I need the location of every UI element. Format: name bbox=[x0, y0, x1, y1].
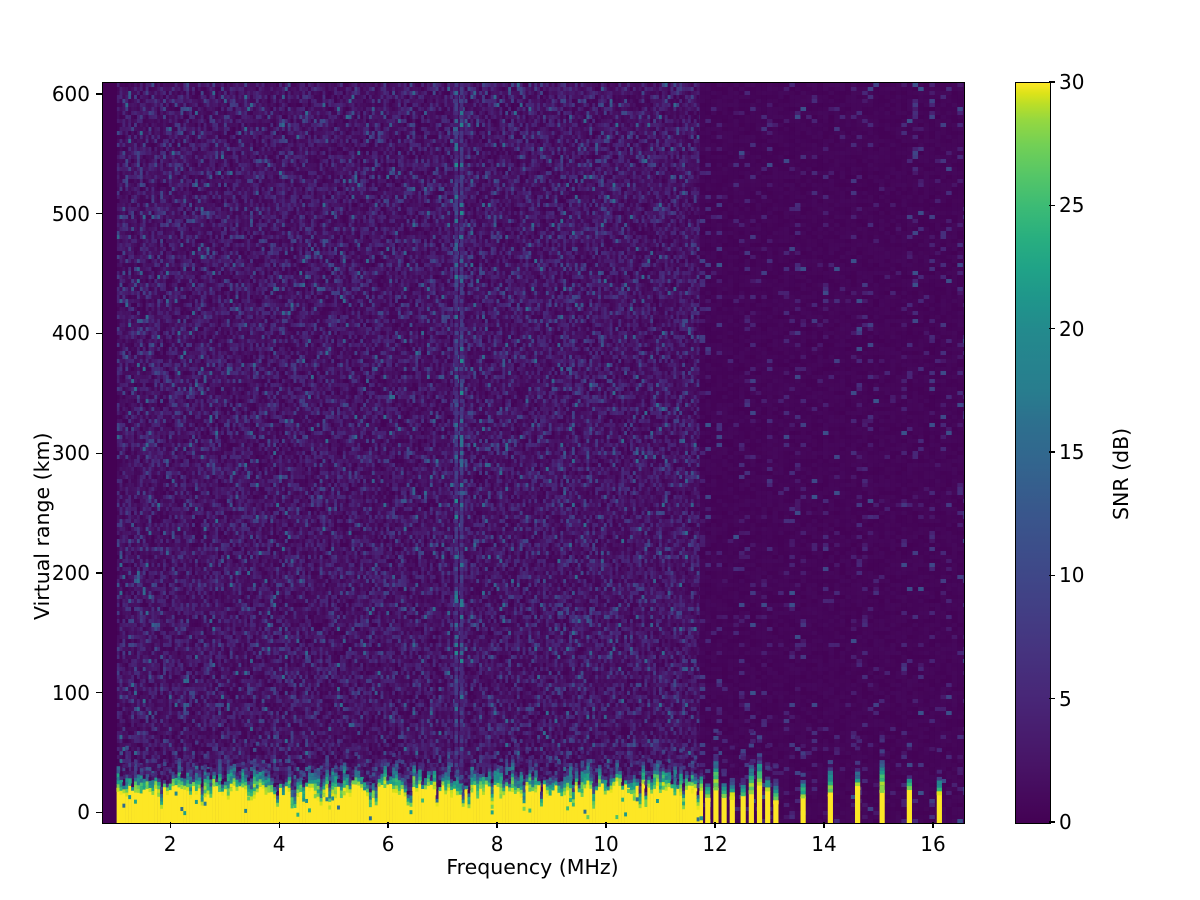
colorbar-tick-label: 25 bbox=[1059, 195, 1084, 215]
x-tick-mark bbox=[496, 822, 497, 828]
x-tick-mark bbox=[823, 822, 824, 828]
y-tick-label: 100 bbox=[6, 683, 90, 703]
x-tick-mark bbox=[932, 822, 933, 828]
y-tick-mark bbox=[96, 812, 102, 813]
colorbar[interactable] bbox=[1015, 82, 1051, 824]
x-tick-label: 2 bbox=[130, 834, 210, 854]
y-tick-mark bbox=[96, 333, 102, 334]
colorbar-tick-label: 10 bbox=[1059, 565, 1084, 585]
colorbar-tick-label: 0 bbox=[1059, 812, 1072, 832]
y-tick-label: 400 bbox=[6, 323, 90, 343]
x-tick-label: 8 bbox=[457, 834, 537, 854]
y-tick-label: 600 bbox=[6, 84, 90, 104]
colorbar-tick-mark bbox=[1049, 205, 1055, 206]
colorbar-tick-label: 5 bbox=[1059, 689, 1072, 709]
colorbar-tick-label: 15 bbox=[1059, 442, 1084, 462]
x-tick-mark bbox=[714, 822, 715, 828]
y-tick-label: 0 bbox=[6, 802, 90, 822]
x-tick-mark bbox=[279, 822, 280, 828]
y-tick-mark bbox=[96, 93, 102, 94]
y-tick-label: 500 bbox=[6, 204, 90, 224]
colorbar-tick-mark bbox=[1049, 575, 1055, 576]
x-tick-label: 14 bbox=[784, 834, 864, 854]
x-tick-mark bbox=[170, 822, 171, 828]
colorbar-tick-mark bbox=[1049, 451, 1055, 452]
x-tick-label: 10 bbox=[566, 834, 646, 854]
y-tick-mark bbox=[96, 572, 102, 573]
colorbar-label: SNR (dB) bbox=[1109, 428, 1133, 520]
x-tick-label: 12 bbox=[675, 834, 755, 854]
colorbar-tick-label: 30 bbox=[1059, 72, 1084, 92]
echo-trace-layer bbox=[103, 83, 964, 823]
x-tick-mark bbox=[387, 822, 388, 828]
x-tick-label: 16 bbox=[893, 834, 973, 854]
y-tick-mark bbox=[96, 453, 102, 454]
colorbar-tick-mark bbox=[1049, 81, 1055, 82]
colorbar-tick-mark bbox=[1049, 698, 1055, 699]
colorbar-tick-label: 20 bbox=[1059, 319, 1084, 339]
y-axis-label: Virtual range (km) bbox=[30, 433, 54, 620]
ionogram-plot-area[interactable] bbox=[102, 82, 965, 824]
x-tick-label: 6 bbox=[348, 834, 428, 854]
x-axis-label: Frequency (MHz) bbox=[102, 855, 963, 879]
colorbar-tick-mark bbox=[1049, 328, 1055, 329]
ionogram-figure: IRF Kiruna Ionosonde KI167 2025-10-15 11… bbox=[0, 0, 1200, 900]
colorbar-tick-mark bbox=[1049, 821, 1055, 822]
x-tick-label: 4 bbox=[239, 834, 319, 854]
y-tick-mark bbox=[96, 213, 102, 214]
x-tick-mark bbox=[605, 822, 606, 828]
y-tick-mark bbox=[96, 692, 102, 693]
